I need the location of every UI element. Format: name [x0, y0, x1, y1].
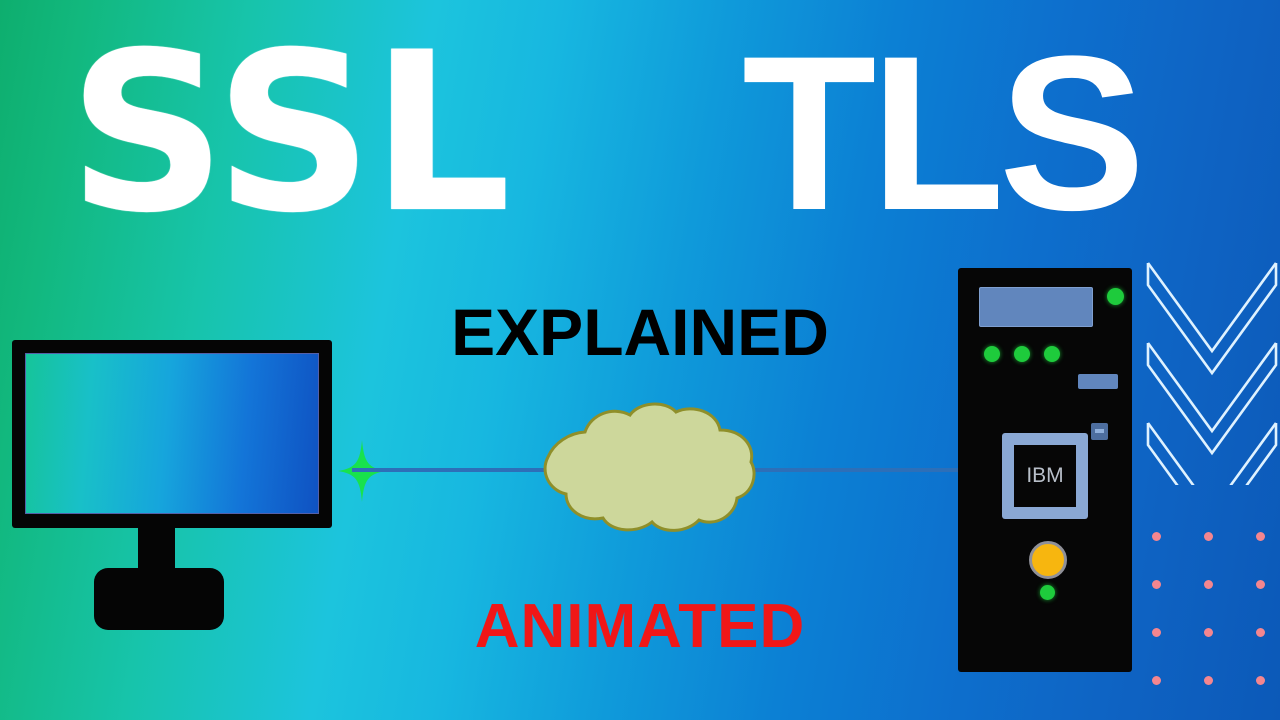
title-word-ssl: SSL [68, 18, 509, 248]
page-title: SSL TLS [0, 18, 1280, 248]
cloud-shape [545, 404, 754, 530]
server-display-panel [979, 287, 1093, 327]
connection-line-cloud-to-server [742, 468, 962, 472]
chevron-down-icon-3 [1148, 423, 1276, 485]
monitor-screen [25, 353, 319, 514]
server-drive-slot [1078, 374, 1118, 389]
server-status-led [1044, 346, 1060, 362]
grid-dot [1256, 676, 1265, 685]
server-power-button[interactable] [1029, 541, 1067, 579]
grid-dot [1204, 676, 1213, 685]
grid-dot [1256, 532, 1265, 541]
server-status-led [1107, 288, 1124, 305]
grid-dot [1152, 676, 1161, 685]
subtitle-animated-text: ANIMATED [475, 592, 806, 661]
grid-dot [1204, 580, 1213, 589]
grid-dot [1204, 532, 1213, 541]
server-brand-inner: IBM [1014, 445, 1076, 507]
chevron-down-icon-group [1142, 255, 1280, 485]
server-brand-plate: IBM [1002, 433, 1088, 519]
subtitle-explained-text: EXPLAINED [451, 296, 829, 368]
chevrons-decoration [1142, 255, 1280, 485]
network-cloud [527, 398, 763, 538]
grid-dot [1152, 580, 1161, 589]
title-word-tls: TLS [742, 18, 1140, 248]
grid-dot [1152, 532, 1161, 541]
server-small-port [1091, 423, 1108, 440]
server-status-led [984, 346, 1000, 362]
subtitle-animated: ANIMATED [0, 592, 1280, 662]
server-brand-label: IBM [1026, 464, 1063, 488]
thumbnail-canvas: SSL TLS EXPLAINED [0, 0, 1280, 720]
chevron-down-icon-3-body [1148, 423, 1276, 485]
monitor-frame [12, 340, 332, 528]
grid-dot [1256, 580, 1265, 589]
server-status-led [1014, 346, 1030, 362]
cloud-icon [527, 398, 763, 538]
